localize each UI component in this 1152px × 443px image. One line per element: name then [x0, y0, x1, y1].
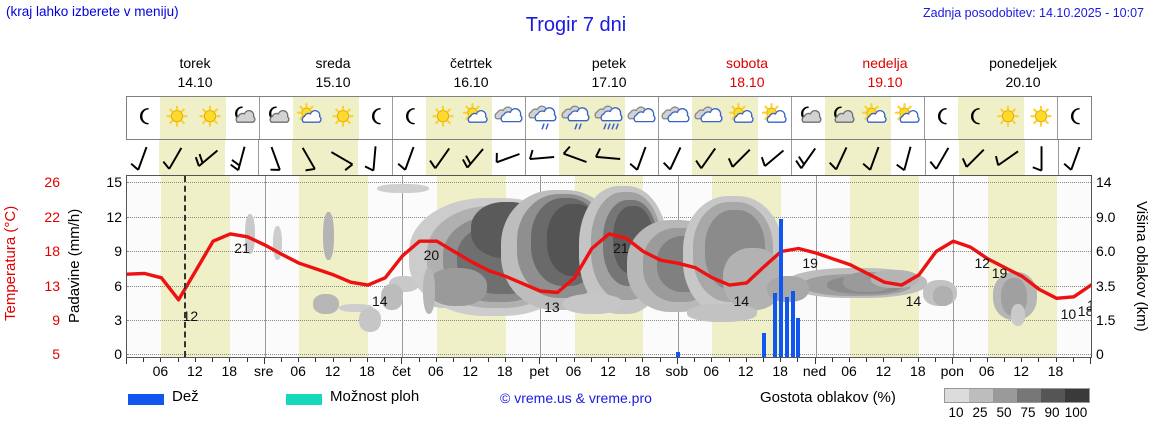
- temperature-label: 19: [802, 255, 818, 271]
- time-label: ned: [803, 363, 826, 379]
- axis-tick-label: 18: [44, 243, 60, 259]
- temperature-curve: [127, 176, 1091, 357]
- cloudheight-axis-ticks: 149.06.03.51.50: [1096, 165, 1130, 363]
- wind-barb-icon: [492, 140, 525, 175]
- day-date: 14.10: [126, 73, 264, 92]
- axis-tick-label: 9: [52, 312, 60, 328]
- wind-barb-icon: [526, 140, 559, 175]
- time-label: 18: [221, 363, 237, 379]
- time-tick: [470, 358, 471, 362]
- time-tick: [160, 358, 161, 362]
- time-tick: [315, 358, 316, 362]
- wind-barb-icon: [659, 140, 692, 175]
- time-tick: [247, 358, 248, 362]
- temperature-axis-ticks: 2622181395: [26, 165, 60, 363]
- weather-icon-sun-cloud: [461, 103, 491, 133]
- wind-barb-icon: [992, 140, 1025, 175]
- showers-legend-swatch: [286, 394, 322, 405]
- sky-icon-cell: [825, 97, 858, 139]
- axis-tick-label: 26: [44, 174, 60, 190]
- time-tick: [729, 358, 730, 362]
- sky-icon-cell: [858, 97, 891, 139]
- day-date: 19.10: [816, 73, 954, 92]
- axis-tick-label: 9: [114, 243, 122, 259]
- sky-icon-cell: [725, 97, 758, 139]
- weather-icon-cloud-rain: [528, 103, 558, 133]
- sky-icon-cell: [426, 97, 459, 139]
- time-tick: [333, 358, 334, 362]
- wind-barb-icon: [292, 140, 325, 175]
- wind-barb-cell: [1058, 140, 1092, 175]
- cloud-density-step: [993, 389, 1017, 402]
- weather-icon-sun-cloud: [295, 103, 325, 133]
- weather-icon-sun: [993, 103, 1023, 133]
- wind-barb-icon: [592, 140, 625, 175]
- wind-barb-cell: [525, 140, 559, 175]
- cloud-density-step: [1041, 389, 1065, 402]
- time-tick: [780, 358, 781, 362]
- wind-barb-cell: [692, 140, 725, 175]
- wind-barb-cell: [492, 140, 525, 175]
- time-label: 12: [187, 363, 203, 379]
- cloud-density-step: [1017, 389, 1041, 402]
- time-label: pet: [529, 363, 548, 379]
- precipitation-bar: [796, 318, 800, 357]
- temperature-label: 12: [975, 255, 991, 271]
- time-tick: [436, 358, 437, 362]
- wind-barb-cell: [559, 140, 592, 175]
- cloud-density-tick: 10: [948, 405, 963, 420]
- weather-icon-sun-cloud: [860, 103, 890, 133]
- wind-barb-icon: [758, 140, 791, 175]
- wind-barb-icon: [725, 140, 758, 175]
- wind-barb-cell: [592, 140, 625, 175]
- weather-icon-sun: [162, 103, 192, 133]
- time-tick: [350, 358, 351, 362]
- axis-tick-label: 1.5: [1096, 312, 1115, 328]
- sky-icon-cell: [127, 97, 160, 139]
- weather-icon-moon: [129, 103, 159, 133]
- day-date: 15.10: [264, 73, 402, 92]
- wind-barb-cell: [858, 140, 891, 175]
- wind-barb-cell: [825, 140, 858, 175]
- cloud-density-tick: 75: [1020, 405, 1035, 420]
- time-tick: [281, 358, 282, 362]
- time-tick: [987, 358, 988, 362]
- time-label: 12: [1013, 363, 1029, 379]
- wind-barb-icon: [959, 140, 992, 175]
- time-tick: [849, 358, 850, 362]
- time-tick: [763, 358, 764, 362]
- weather-icon-cloud: [661, 103, 691, 133]
- axis-tick-label: 0: [114, 346, 122, 362]
- weather-icon-sun: [195, 103, 225, 133]
- weather-icon-sun-cloud: [760, 103, 790, 133]
- sky-icon-cell: [758, 97, 791, 139]
- weather-icon-cloud: [627, 103, 657, 133]
- wind-barb-cell: [925, 140, 959, 175]
- time-tick: [488, 358, 489, 362]
- wind-barb-cell: [725, 140, 758, 175]
- sky-icon-cell: [293, 97, 326, 139]
- wind-barb-icon: [393, 140, 426, 175]
- time-tick: [229, 358, 230, 362]
- axis-tick-label: 9.0: [1096, 209, 1115, 225]
- wind-barb-strip: [126, 140, 1092, 175]
- wind-barb-icon: [792, 140, 825, 175]
- weather-icon-cloud: [694, 103, 724, 133]
- time-label: 18: [359, 363, 375, 379]
- day-date: 20.10: [954, 73, 1092, 92]
- wind-barb-cell: [358, 140, 391, 175]
- sky-icon-cell: [359, 97, 392, 139]
- precipitation-bar: [785, 297, 789, 357]
- time-tick: [195, 358, 196, 362]
- sky-icon-cell: [958, 97, 991, 139]
- time-tick: [901, 358, 902, 362]
- temperature-label: 20: [424, 247, 440, 263]
- axis-tick-label: 13: [44, 278, 60, 294]
- time-label: 06: [153, 363, 169, 379]
- day-header-band: torek14.10sreda15.10četrtek16.10petek17.…: [126, 54, 1092, 94]
- time-tick: [660, 358, 661, 362]
- cloud-density-legend-title: Gostota oblakov (%): [760, 389, 896, 406]
- cloud-density-step: [945, 389, 969, 402]
- time-tick: [178, 358, 179, 362]
- weather-icon-cloud-rain-heavy: [594, 103, 624, 133]
- axis-tick-label: 5: [52, 346, 60, 362]
- sky-icon-cell: [1057, 97, 1091, 139]
- temperature-label: 14: [734, 293, 750, 309]
- time-tick: [746, 358, 747, 362]
- day-name: torek: [126, 54, 264, 73]
- time-label: 12: [462, 363, 478, 379]
- time-tick: [574, 358, 575, 362]
- temperature-label: 14: [372, 293, 388, 309]
- time-tick: [1004, 358, 1005, 362]
- time-tick: [505, 358, 506, 362]
- weather-icon-sun: [428, 103, 458, 133]
- sky-icon-cell: [459, 97, 492, 139]
- day-name: četrtek: [402, 54, 540, 73]
- day-header-sobota: sobota18.10: [678, 54, 816, 94]
- time-label: čet: [392, 363, 411, 379]
- cloud-density-tick: 90: [1044, 405, 1059, 420]
- weather-icon-moon-cloud: [262, 103, 292, 133]
- day-header-petek: petek17.10: [540, 54, 678, 94]
- sky-icon-cell: [692, 97, 725, 139]
- showers-legend-label: Možnost ploh: [330, 388, 419, 405]
- wind-barb-icon: [358, 140, 391, 175]
- temperature-label: 19: [992, 265, 1008, 281]
- time-tick: [832, 358, 833, 362]
- time-tick: [642, 358, 643, 362]
- day-date: 17.10: [540, 73, 678, 92]
- time-tick: [935, 358, 936, 362]
- time-label: 12: [600, 363, 616, 379]
- time-label: 12: [738, 363, 754, 379]
- sky-icon-cell: [625, 97, 658, 139]
- temperature-label: 21: [234, 240, 250, 256]
- wind-barb-cell: [225, 140, 258, 175]
- wind-barb-cell: [159, 140, 192, 175]
- time-label: sob: [666, 363, 689, 379]
- wind-barb-cell: [791, 140, 825, 175]
- forecast-plot: 1221142013211419141219101812: [126, 175, 1092, 358]
- time-label: 06: [979, 363, 995, 379]
- weather-icon-moon-cloud: [794, 103, 824, 133]
- wind-barb-icon: [891, 140, 924, 175]
- temperature-label: 14: [906, 293, 922, 309]
- axis-tick-label: 3: [114, 312, 122, 328]
- day-date: 18.10: [678, 73, 816, 92]
- day-name: nedelja: [816, 54, 954, 73]
- day-date: 16.10: [402, 73, 540, 92]
- rain-legend-label: Dež: [172, 388, 199, 405]
- sky-icon-cell: [658, 97, 692, 139]
- wind-barb-cell: [891, 140, 924, 175]
- axis-tick-label: 6.0: [1096, 243, 1115, 259]
- time-tick: [1038, 358, 1039, 362]
- precipitation-bar: [779, 219, 783, 357]
- time-tick: [126, 358, 127, 364]
- sky-icon-cell: [392, 97, 426, 139]
- time-tick: [625, 358, 626, 362]
- last-updated: Zadnja posodobitev: 14.10.2025 - 10:07: [923, 6, 1144, 20]
- sky-icon-cell: [326, 97, 359, 139]
- weather-icon-cloud: [494, 103, 524, 133]
- cloud-density-step: [969, 389, 993, 402]
- axis-tick-label: 6: [114, 278, 122, 294]
- weather-icon-sun: [1026, 103, 1056, 133]
- wind-barb-cell: [625, 140, 658, 175]
- day-header-ponedeljek: ponedeljek20.10: [954, 54, 1092, 94]
- temperature-label: 21: [613, 240, 629, 256]
- wind-barb-icon: [259, 140, 292, 175]
- sky-icon-cell: [559, 97, 592, 139]
- time-tick: [384, 358, 385, 362]
- sky-icon-cell: [791, 97, 825, 139]
- time-label: 06: [290, 363, 306, 379]
- time-tick: [608, 358, 609, 362]
- temperature-label: 13: [544, 299, 560, 315]
- wind-barb-cell: [658, 140, 692, 175]
- time-label: 12: [876, 363, 892, 379]
- weather-icon-cloud-rain: [561, 103, 591, 133]
- day-name: petek: [540, 54, 678, 73]
- cloud-density-tick: 100: [1065, 405, 1088, 420]
- time-tick: [918, 358, 919, 362]
- weather-icon-moon-cloud: [827, 103, 857, 133]
- cloud-density-tick: 50: [996, 405, 1011, 420]
- time-tick: [212, 358, 213, 362]
- temperature-label: 10: [1061, 306, 1077, 322]
- wind-barb-cell: [325, 140, 358, 175]
- axis-tick-label: 14: [1096, 174, 1112, 190]
- weather-icon-sun-cloud: [727, 103, 757, 133]
- wind-barb-cell: [1025, 140, 1058, 175]
- precipitation-bar: [762, 333, 766, 357]
- wind-barb-cell: [292, 140, 325, 175]
- temperature-label: 12: [1087, 297, 1092, 313]
- wind-barb-icon: [459, 140, 492, 175]
- sky-icon-cell: [592, 97, 625, 139]
- day-name: sobota: [678, 54, 816, 73]
- time-tick: [970, 358, 971, 362]
- chart-legend: Dež Možnost ploh © vreme.us & vreme.pro …: [126, 386, 1146, 436]
- wind-barb-icon: [1025, 140, 1058, 175]
- time-label: 06: [841, 363, 857, 379]
- weather-icon-moon: [960, 103, 990, 133]
- day-name: ponedeljek: [954, 54, 1092, 73]
- wind-barb-icon: [692, 140, 725, 175]
- time-tick: [866, 358, 867, 362]
- sky-icon-cell: [160, 97, 193, 139]
- day-header-sreda: sreda15.10: [264, 54, 402, 94]
- time-tick: [1056, 358, 1057, 362]
- cloudheight-axis-title: Višina oblakov (km): [1128, 168, 1150, 364]
- weather-icon-sun: [328, 103, 358, 133]
- weather-icon-moon: [361, 103, 391, 133]
- day-header-torek: torek14.10: [126, 54, 264, 94]
- time-label: sre: [254, 363, 273, 379]
- precipitation-bar: [773, 293, 777, 357]
- time-label: 18: [910, 363, 926, 379]
- sky-icon-cell: [525, 97, 559, 139]
- time-label: 18: [635, 363, 651, 379]
- wind-barb-icon: [625, 140, 658, 175]
- time-tick: [419, 358, 420, 362]
- sky-icon-cell: [259, 97, 293, 139]
- time-label: 18: [1048, 363, 1064, 379]
- wind-barb-icon: [159, 140, 192, 175]
- temperature-axis-title: Temperatura (°C): [2, 168, 24, 358]
- wind-barb-cell: [992, 140, 1025, 175]
- day-header-nedelja: nedelja19.10: [816, 54, 954, 94]
- time-tick: [1021, 358, 1022, 362]
- time-tick: [453, 358, 454, 362]
- weather-icon-moon: [395, 103, 425, 133]
- time-tick: [143, 358, 144, 362]
- sky-icon-cell: [924, 97, 958, 139]
- cloud-density-ramp: [944, 388, 1090, 403]
- wind-barb-cell: [126, 140, 159, 175]
- wind-barb-cell: [959, 140, 992, 175]
- axis-tick-label: 22: [44, 209, 60, 225]
- time-label: 18: [772, 363, 788, 379]
- time-axis: 061218sre061218čet061218pet061218sob0612…: [126, 358, 1092, 382]
- time-label: 06: [703, 363, 719, 379]
- axis-tick-label: 12: [106, 209, 122, 225]
- wind-barb-icon: [858, 140, 891, 175]
- sky-icon-cell: [492, 97, 525, 139]
- current-time-marker: [184, 176, 186, 357]
- day-header-četrtek: četrtek16.10: [402, 54, 540, 94]
- precipitation-axis-ticks: 15129630: [90, 165, 122, 363]
- sky-icon-cell: [1024, 97, 1057, 139]
- axis-tick-label: 15: [106, 174, 122, 190]
- wind-barb-cell: [258, 140, 292, 175]
- time-tick: [556, 358, 557, 362]
- time-tick: [591, 358, 592, 362]
- precipitation-axis-title: Padavine (mm/h): [66, 168, 88, 364]
- weather-icon-moon-cloud: [228, 103, 258, 133]
- time-tick: [883, 358, 884, 362]
- sky-icon-cell: [891, 97, 924, 139]
- time-label: pon: [941, 363, 964, 379]
- wind-barb-icon: [1059, 140, 1092, 175]
- sky-condition-strip: [126, 96, 1092, 140]
- time-label: 12: [325, 363, 341, 379]
- wind-barb-icon: [325, 140, 358, 175]
- cloud-density-step: [1065, 389, 1089, 402]
- copyright-link[interactable]: © vreme.us & vreme.pro: [500, 390, 652, 406]
- wind-barb-cell: [426, 140, 459, 175]
- axis-tick-label: 3.5: [1096, 278, 1115, 294]
- time-tick: [522, 358, 523, 362]
- time-label: 06: [428, 363, 444, 379]
- wind-barb-icon: [126, 140, 159, 175]
- wind-barb-icon: [559, 140, 592, 175]
- weather-icon-moon: [927, 103, 957, 133]
- time-tick: [367, 358, 368, 362]
- precipitation-bar: [676, 352, 680, 357]
- cloud-density-tick: 25: [972, 405, 987, 420]
- wind-barb-icon: [192, 140, 225, 175]
- sky-icon-cell: [226, 97, 259, 139]
- time-label: 06: [566, 363, 582, 379]
- time-tick: [694, 358, 695, 362]
- sky-icon-cell: [193, 97, 226, 139]
- time-tick: [797, 358, 798, 362]
- wind-barb-icon: [426, 140, 459, 175]
- wind-barb-icon: [825, 140, 858, 175]
- weather-icon-moon: [1060, 103, 1090, 133]
- wind-barb-cell: [758, 140, 791, 175]
- rain-legend-swatch: [128, 394, 164, 405]
- wind-barb-cell: [459, 140, 492, 175]
- axis-tick-label: 0: [1096, 346, 1104, 362]
- precipitation-bar: [791, 291, 795, 357]
- time-label: 18: [497, 363, 513, 379]
- time-tick: [298, 358, 299, 362]
- time-tick: [711, 358, 712, 362]
- wind-barb-cell: [192, 140, 225, 175]
- weather-icon-sun-cloud: [893, 103, 923, 133]
- time-tick: [1090, 358, 1091, 364]
- wind-barb-icon: [225, 140, 258, 175]
- wind-barb-icon: [926, 140, 959, 175]
- wind-barb-cell: [392, 140, 426, 175]
- sky-icon-cell: [991, 97, 1024, 139]
- time-tick: [1073, 358, 1074, 362]
- day-name: sreda: [264, 54, 402, 73]
